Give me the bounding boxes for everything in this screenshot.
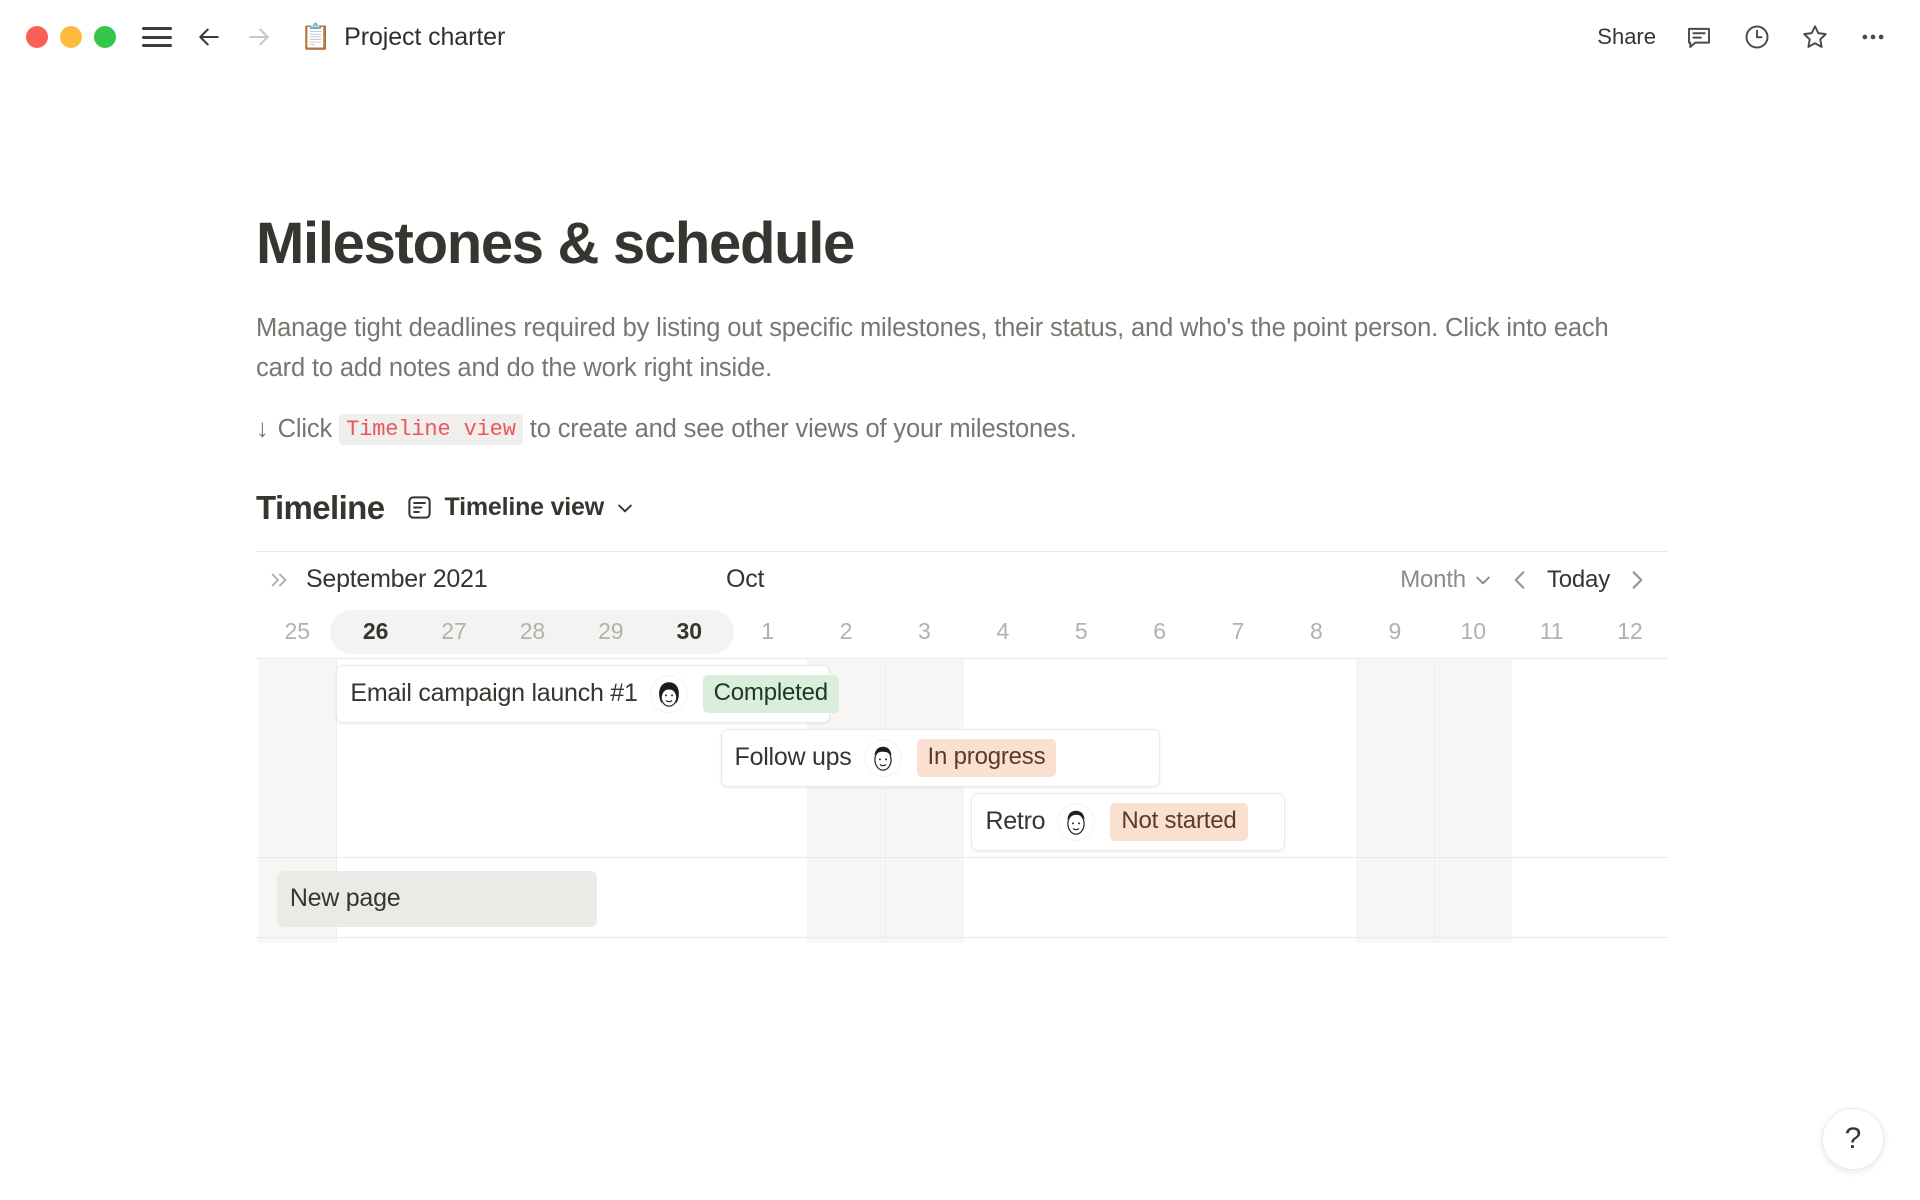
forward-arrow-icon[interactable]	[244, 22, 274, 52]
timeline-date-5[interactable]: 5	[1042, 608, 1120, 656]
page-title: Milestones & schedule	[256, 210, 1668, 277]
weekend-shade	[1434, 659, 1512, 943]
section-header: Timeline Timeline view	[256, 489, 1668, 527]
app-window: 📋 Project charter Share Milestones & sch…	[0, 0, 1920, 1200]
comment-icon[interactable]	[1684, 22, 1714, 52]
history-clock-icon[interactable]	[1742, 22, 1772, 52]
timeline-date-4[interactable]: 4	[964, 608, 1042, 656]
timeline-date-30[interactable]: 30	[650, 608, 728, 656]
timeline-header: September 2021 Oct Month Today	[256, 552, 1668, 608]
timeline-today-button[interactable]: Today	[1547, 566, 1610, 594]
timeline-date-2[interactable]: 2	[807, 608, 885, 656]
timeline-date-1[interactable]: 1	[728, 608, 806, 656]
timeline-date-11[interactable]: 11	[1512, 608, 1590, 656]
timeline-date-7[interactable]: 7	[1199, 608, 1277, 656]
timeline-row-divider	[256, 857, 1668, 858]
timeline-scale-selector[interactable]: Month	[1400, 566, 1493, 594]
hint-text-after: to create and see other views of your mi…	[530, 415, 1077, 444]
back-arrow-icon[interactable]	[194, 22, 224, 52]
title-bar: 📋 Project charter Share	[0, 0, 1920, 74]
timeline-card-title: Email campaign launch #1	[350, 679, 637, 708]
new-page-button[interactable]: New page	[277, 871, 597, 927]
timeline-widget: September 2021 Oct Month Today	[256, 551, 1668, 943]
titlebar-actions: Share	[1597, 22, 1888, 52]
timeline-card[interactable]: Email campaign launch #1Completed	[336, 665, 830, 723]
down-arrow-icon: ↓	[256, 415, 269, 444]
weekend-shade	[885, 659, 963, 943]
maximize-window-button[interactable]	[94, 26, 116, 48]
traffic-lights	[26, 26, 116, 48]
section-title: Timeline	[256, 489, 384, 527]
timeline-bottom-divider	[256, 937, 1668, 938]
timeline-date-row: 252627282930123456789101112	[256, 608, 1668, 658]
avatar[interactable]	[1058, 804, 1094, 840]
timeline-date-12[interactable]: 12	[1591, 608, 1669, 656]
timeline-date-29[interactable]: 29	[572, 608, 650, 656]
hint-line: ↓ Click Timeline view to create and see …	[256, 414, 1668, 445]
timeline-grid: Email campaign launch #1CompletedFollow …	[256, 658, 1668, 943]
timeline-date-3[interactable]: 3	[885, 608, 963, 656]
help-button[interactable]: ?	[1822, 1108, 1884, 1170]
timeline-card[interactable]: RetroNot started	[971, 793, 1285, 851]
timeline-week-divider	[885, 659, 886, 943]
timeline-card-title: Retro	[985, 807, 1045, 836]
timeline-view-icon	[406, 494, 433, 521]
timeline-scale-label: Month	[1400, 566, 1466, 594]
timeline-controls: Month Today	[1400, 566, 1668, 594]
timeline-date-27[interactable]: 27	[415, 608, 493, 656]
close-window-button[interactable]	[26, 26, 48, 48]
timeline-date-8[interactable]: 8	[1277, 608, 1355, 656]
new-page-label: New page	[290, 884, 401, 913]
timeline-date-6[interactable]: 6	[1120, 608, 1198, 656]
document-emoji-icon: 📋	[300, 25, 331, 50]
view-selector-label: Timeline view	[444, 493, 604, 522]
timeline-date-26[interactable]: 26	[336, 608, 414, 656]
chevron-down-icon	[1473, 570, 1493, 590]
timeline-next-button[interactable]	[1624, 567, 1650, 593]
share-button[interactable]: Share	[1597, 24, 1656, 50]
avatar[interactable]	[865, 740, 901, 776]
weekend-shade	[1356, 659, 1434, 943]
page-description: Manage tight deadlines required by listi…	[256, 309, 1616, 389]
timeline-week-divider	[1434, 659, 1435, 943]
document-title[interactable]: Project charter	[344, 23, 505, 52]
page-content: Milestones & schedule Manage tight deadl…	[0, 74, 1920, 943]
timeline-date-25[interactable]: 25	[258, 608, 336, 656]
double-chevron-right-icon[interactable]	[266, 569, 292, 591]
avatar[interactable]	[651, 676, 687, 712]
status-badge: Completed	[703, 675, 839, 713]
chevron-down-icon	[615, 498, 635, 518]
next-month-label: Oct	[726, 565, 764, 594]
timeline-card-title: Follow ups	[735, 743, 852, 772]
star-icon[interactable]	[1800, 22, 1830, 52]
timeline-date-28[interactable]: 28	[493, 608, 571, 656]
timeline-view-code-chip[interactable]: Timeline view	[339, 414, 523, 445]
status-badge: In progress	[917, 739, 1057, 777]
hint-text-before: Click	[278, 415, 333, 444]
current-month-label: September 2021	[306, 565, 487, 594]
timeline-card[interactable]: Follow upsIn progress	[721, 729, 1160, 787]
status-badge: Not started	[1110, 803, 1247, 841]
timeline-date-10[interactable]: 10	[1434, 608, 1512, 656]
timeline-prev-button[interactable]	[1507, 567, 1533, 593]
view-selector[interactable]: Timeline view	[406, 493, 635, 522]
hamburger-menu-icon[interactable]	[142, 24, 172, 50]
more-options-icon[interactable]	[1858, 22, 1888, 52]
minimize-window-button[interactable]	[60, 26, 82, 48]
timeline-date-9[interactable]: 9	[1356, 608, 1434, 656]
